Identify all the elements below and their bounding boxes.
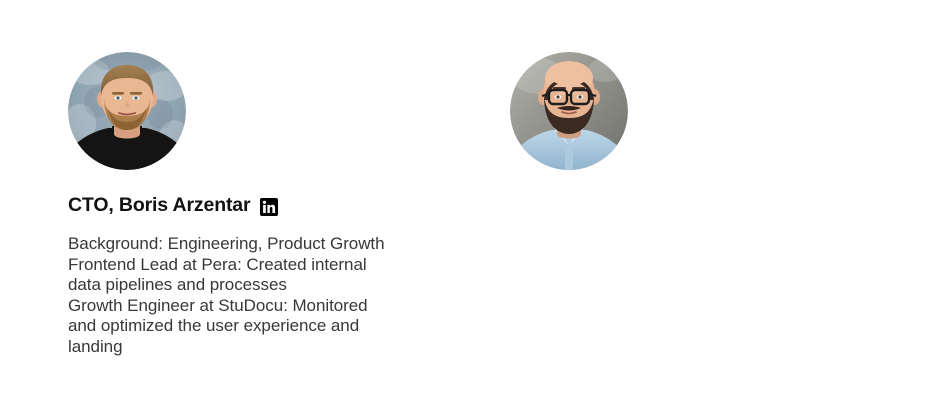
person-bio: Background: Engineering, Product Growth …: [68, 234, 418, 358]
profile-card-cto: CTO, Boris Arzentar Background: Engineer…: [0, 0, 474, 412]
bio-line: Background: Engineering, Product Growth: [68, 234, 418, 255]
avatar-photo: [68, 52, 186, 170]
linkedin-icon[interactable]: [260, 198, 278, 216]
avatar-photo: [510, 52, 628, 170]
bio-line: data pipelines and processes: [68, 275, 418, 296]
bio-line: landing: [68, 337, 418, 358]
profile-card-ceo: CEO, Vasilije Markovic Background: Busin…: [474, 0, 948, 412]
avatar: [68, 52, 186, 170]
bio-line: Growth Engineer at StuDocu: Monitored: [68, 296, 418, 317]
person-name: CTO, Boris Arzentar: [68, 196, 250, 216]
bio-line: and optimized the user experience and: [68, 316, 418, 337]
team-profiles-grid: CTO, Boris Arzentar Background: Engineer…: [0, 0, 948, 412]
avatar: [510, 52, 628, 170]
bio-line: Frontend Lead at Pera: Created internal: [68, 255, 418, 276]
person-heading: CTO, Boris Arzentar: [68, 196, 278, 216]
